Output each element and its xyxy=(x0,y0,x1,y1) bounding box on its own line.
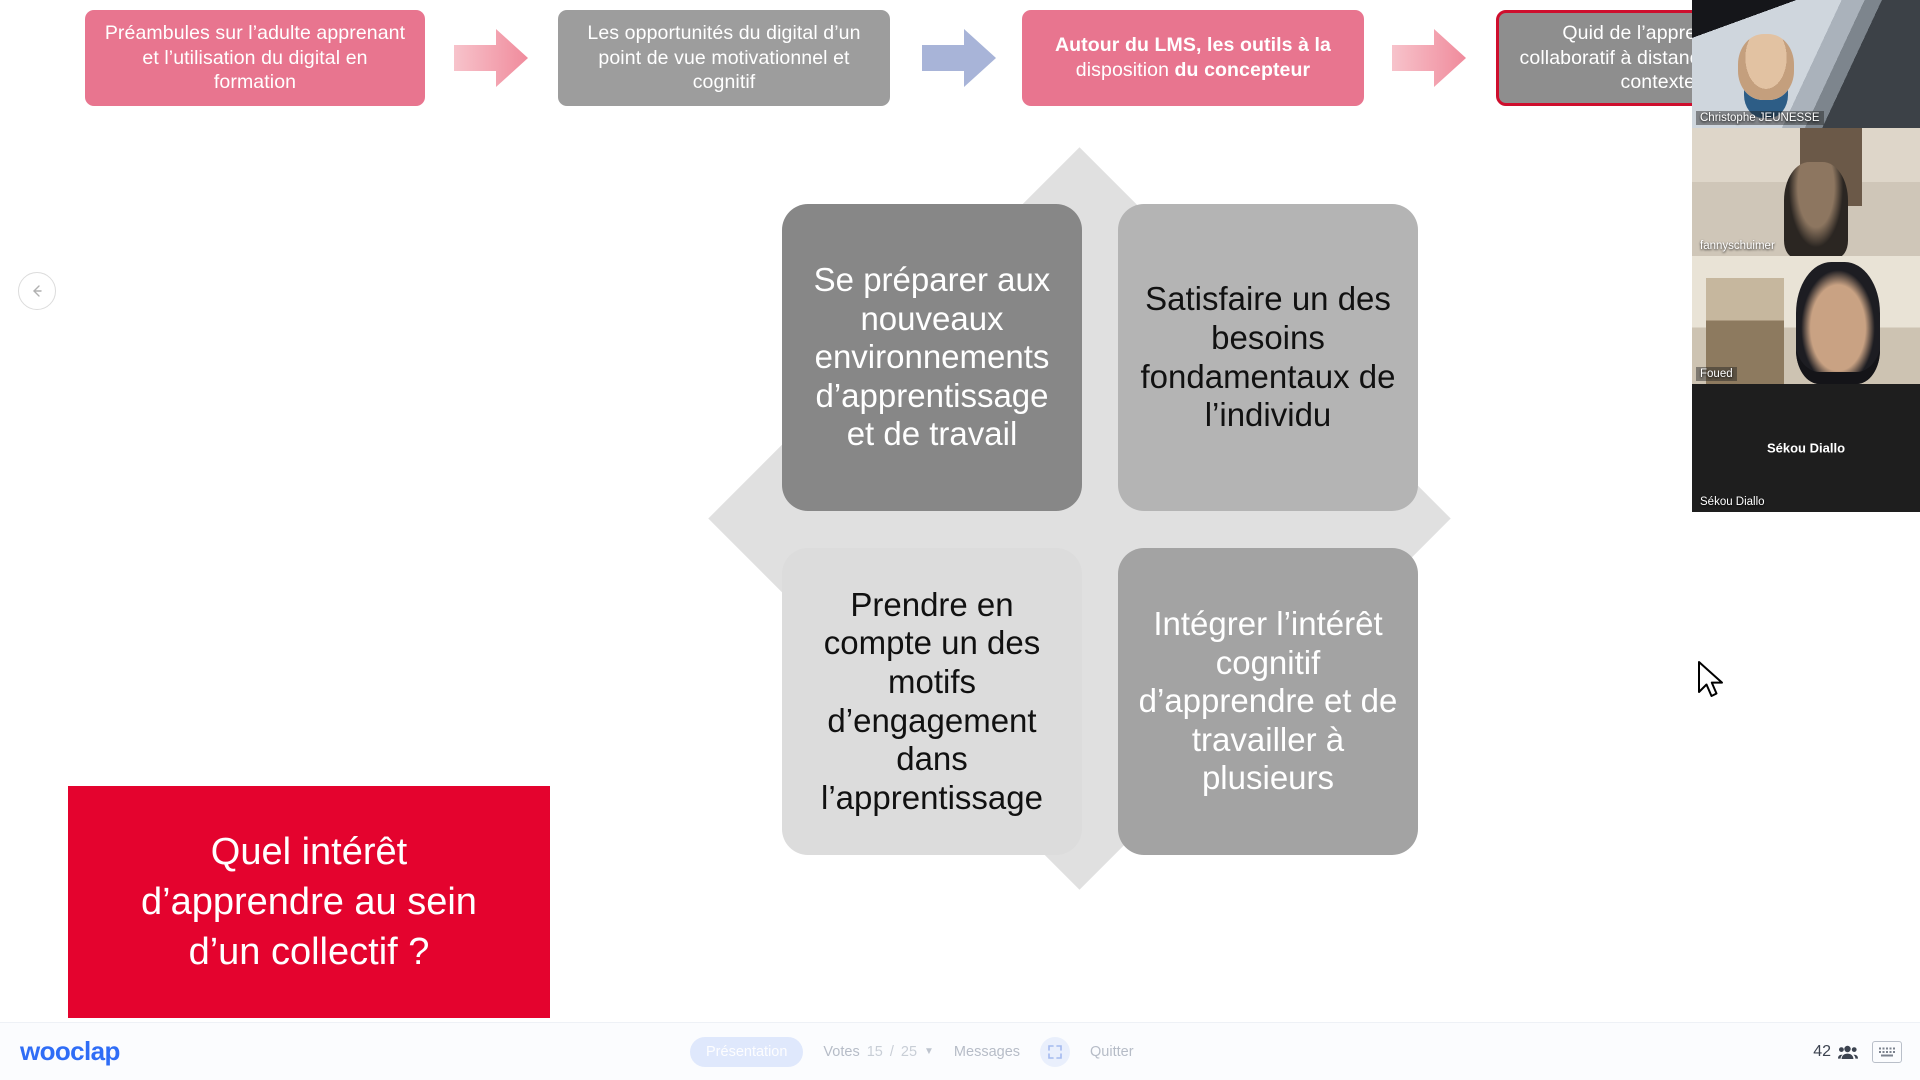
quadrant-top-right-label: Satisfaire un des besoins fondamentaux d… xyxy=(1136,280,1400,434)
process-arrow-2-icon xyxy=(920,26,998,90)
video-tile-2-name: fannyschuimer xyxy=(1696,239,1779,253)
bottom-toolbar: wooclap Présentation Votes 15 / 25 ▼ Mes… xyxy=(0,1022,1920,1080)
video-tile-participant-4[interactable]: Sékou Diallo Sékou Diallo xyxy=(1692,384,1920,512)
slide-title-line-3: d’un collectif ? xyxy=(189,931,430,973)
people-icon xyxy=(1838,1044,1858,1060)
fullscreen-button[interactable] xyxy=(1040,1037,1070,1067)
slide-canvas: Préambules sur l’adulte apprenant et l’u… xyxy=(0,0,1920,1022)
quadrant-top-left-label: Se préparer aux nouveaux environnements … xyxy=(800,261,1064,454)
toolbar-center-controls: Présentation Votes 15 / 25 ▼ Messages Qu… xyxy=(690,1037,1134,1067)
slide-title-line-1: Quel intérêt xyxy=(211,831,407,873)
votes-label: Votes xyxy=(823,1044,859,1060)
video-tile-participant-2[interactable]: fannyschuimer xyxy=(1692,128,1920,256)
webcam-feed-2 xyxy=(1692,128,1920,256)
votes-current: 15 xyxy=(867,1044,883,1060)
video-participants-panel: Christophe JEUNESSE fannyschuimer Foued … xyxy=(1692,0,1920,512)
votes-control[interactable]: Votes 15 / 25 ▼ xyxy=(823,1044,934,1060)
video-tile-participant-1[interactable]: Christophe JEUNESSE xyxy=(1692,0,1920,128)
presentation-button[interactable]: Présentation xyxy=(690,1037,803,1067)
wooclap-presentation-window: Préambules sur l’adulte apprenant et l’u… xyxy=(0,0,1920,1080)
slide-title-text: Quel intérêt d’apprendre au sein d’un co… xyxy=(141,827,477,977)
votes-total: 25 xyxy=(901,1044,917,1060)
expand-icon xyxy=(1047,1044,1063,1060)
quadrant-bottom-left-label: Prendre en compte un des motifs d’engage… xyxy=(800,586,1064,818)
process-step-1: Préambules sur l’adulte apprenant et l’u… xyxy=(85,10,425,106)
video-tile-1-name: Christophe JEUNESSE xyxy=(1696,111,1824,125)
process-step-3-line1: Autour du LMS, les outils à la xyxy=(1055,34,1331,56)
process-step-3-line2a: disposition xyxy=(1076,59,1175,81)
chevron-down-icon: ▼ xyxy=(924,1046,934,1057)
process-arrow-1-icon xyxy=(452,26,530,90)
quadrant-diagram: Se préparer aux nouveaux environnements … xyxy=(684,118,1474,918)
webcam-feed-1 xyxy=(1692,0,1920,128)
webcam-feed-3 xyxy=(1692,256,1920,384)
process-step-3-label: Autour du LMS, les outils à la dispositi… xyxy=(1055,33,1331,83)
participant-count-chip: 42 xyxy=(1813,1043,1858,1061)
slide-title-banner: Quel intérêt d’apprendre au sein d’un co… xyxy=(68,786,550,1018)
process-step-3-line2b: du concepteur xyxy=(1175,59,1311,81)
slide-title-line-2: d’apprendre au sein xyxy=(141,881,477,923)
process-step-1-label: Préambules sur l’adulte apprenant et l’u… xyxy=(99,21,411,96)
quadrant-bottom-right-label: Intégrer l’intérêt cognitif d’apprendre … xyxy=(1136,605,1400,798)
process-step-2-label: Les opportunités du digital d’un point d… xyxy=(572,21,876,96)
quadrant-top-left: Se préparer aux nouveaux environnements … xyxy=(782,204,1082,511)
quadrant-bottom-right: Intégrer l’intérêt cognitif d’apprendre … xyxy=(1118,548,1418,855)
video-tile-3-name: Foued xyxy=(1696,367,1737,381)
participant-count: 42 xyxy=(1813,1043,1831,1061)
arrow-left-icon xyxy=(29,283,45,299)
video-tile-participant-3[interactable]: Foued xyxy=(1692,256,1920,384)
votes-separator: / xyxy=(890,1044,894,1060)
wooclap-logo[interactable]: wooclap xyxy=(20,1036,120,1067)
toolbar-right-controls: 42 xyxy=(1813,1041,1902,1063)
quadrant-bottom-left: Prendre en compte un des motifs d’engage… xyxy=(782,548,1082,855)
keyboard-shortcuts-button[interactable] xyxy=(1872,1041,1902,1063)
keyboard-icon xyxy=(1877,1045,1897,1058)
process-step-2: Les opportunités du digital d’un point d… xyxy=(558,10,890,106)
video-tile-4-center-name: Sékou Diallo xyxy=(1692,441,1920,456)
process-steps-row: Préambules sur l’adulte apprenant et l’u… xyxy=(0,0,1920,120)
messages-button[interactable]: Messages xyxy=(954,1044,1020,1060)
video-tile-4-name: Sékou Diallo xyxy=(1696,495,1769,509)
process-step-3: Autour du LMS, les outils à la dispositi… xyxy=(1022,10,1364,106)
quit-button[interactable]: Quitter xyxy=(1090,1044,1134,1060)
mouse-cursor xyxy=(1697,660,1727,704)
previous-slide-button[interactable] xyxy=(18,272,56,310)
process-arrow-3-icon xyxy=(1390,26,1468,90)
quadrant-top-right: Satisfaire un des besoins fondamentaux d… xyxy=(1118,204,1418,511)
